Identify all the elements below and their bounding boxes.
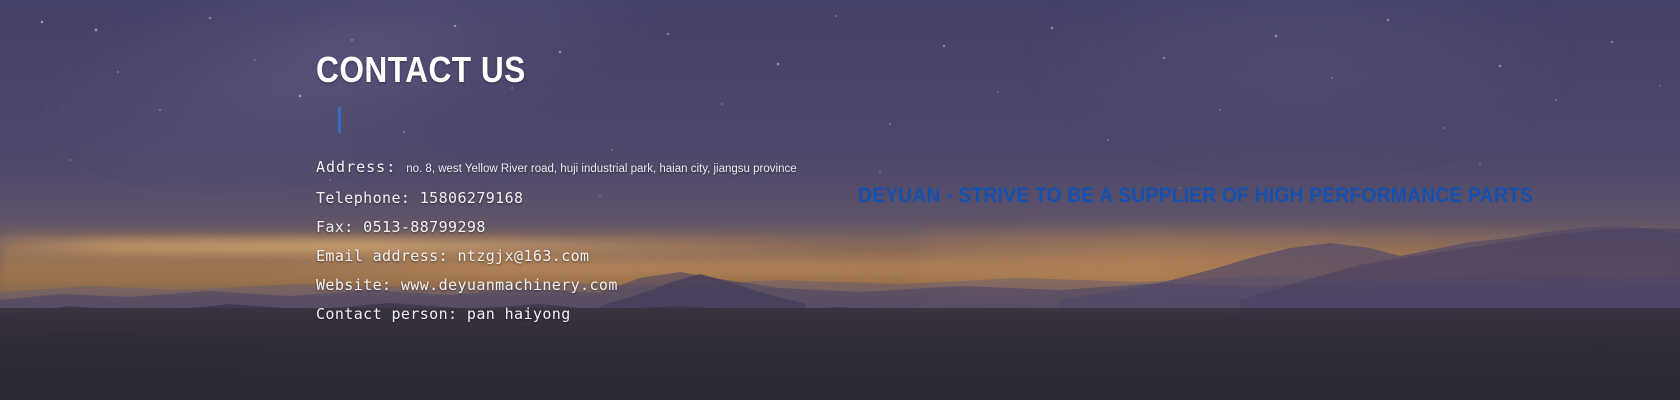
contact-person: Contact person: pan haiyong	[316, 300, 1216, 329]
contact-website[interactable]: Website: www.deyuanmachinery.com	[316, 271, 1216, 300]
contact-banner: CONTACT US Address: no. 8, west Yellow R…	[0, 0, 1680, 400]
company-slogan: DEYUAN - STRIVE TO BE A SUPPLIER OF HIGH…	[858, 184, 1533, 208]
contact-address-row: Address: no. 8, west Yellow River road, …	[316, 153, 1216, 184]
contact-details-list: Address: no. 8, west Yellow River road, …	[316, 153, 1216, 329]
title-accent-bar	[338, 107, 341, 133]
address-label: Address:	[316, 153, 396, 182]
contact-email[interactable]: Email address: ntzgjx@163.com	[316, 242, 1216, 271]
page-title: CONTACT US	[316, 52, 1108, 88]
address-value: no. 8, west Yellow River road, huji indu…	[406, 155, 796, 184]
contact-fax: Fax: 0513-88799298	[316, 213, 1216, 242]
